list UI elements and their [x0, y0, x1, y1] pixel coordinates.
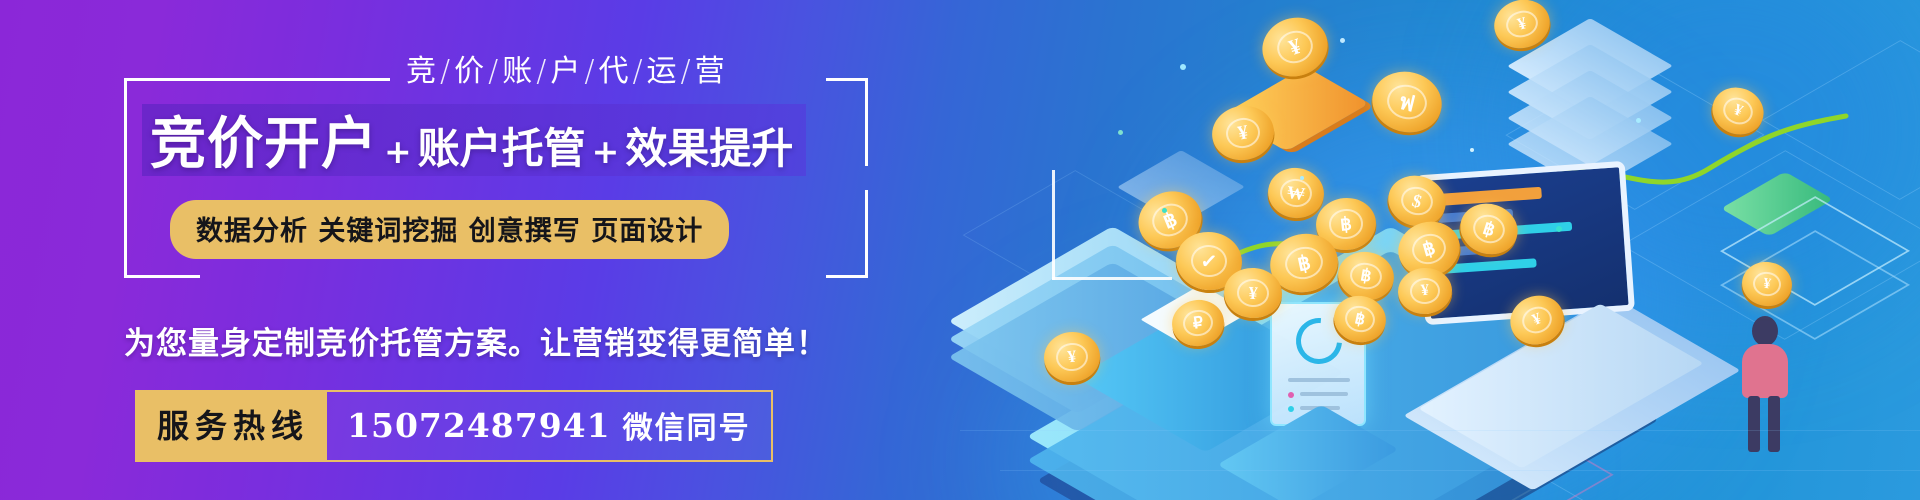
isometric-grid-1: [1505, 60, 1764, 210]
kicker-word: 户: [550, 54, 582, 89]
desk-platform-edge: [1027, 250, 1649, 500]
kicker-separator: /: [582, 54, 598, 89]
person-leg-right: [1768, 396, 1780, 452]
accent-loop-pink: [1216, 360, 1613, 500]
coin-16: ฿: [1454, 196, 1525, 261]
accent-loop-cyan: [1282, 395, 1559, 500]
coin-2: ฟ: [1366, 64, 1448, 139]
kicker-word: 价: [454, 54, 486, 89]
floor-line-1: [960, 430, 1920, 431]
isometric-grid-2: [1621, 150, 1920, 340]
headline-part-1: 竞价开户: [150, 112, 378, 177]
desk-platform-shadow: [1037, 270, 1659, 500]
hud-dot-2: [1288, 406, 1294, 412]
coin-12: ¥: [1222, 266, 1283, 320]
services-pill: 数据分析 关键词挖掘 创意撰写 页面设计: [170, 200, 729, 259]
kicker-separator: /: [679, 54, 695, 89]
coin-6: ✓: [1173, 229, 1245, 294]
subtitle: 为您量身定制竞价托管方案。让营销变得更简单！: [124, 318, 828, 363]
tower-block-3: [1507, 70, 1673, 166]
tower-block-2: [1507, 44, 1673, 140]
green-slab: [1721, 172, 1833, 237]
coin-19: ¥: [1503, 288, 1570, 352]
coin-5: ฿: [1130, 182, 1210, 258]
isometric-grid-4: [1220, 400, 1600, 500]
coin-7: ฿: [1313, 195, 1378, 253]
bracket-bottom-right: [826, 190, 868, 278]
sparkle-8: [1470, 148, 1474, 152]
tower-block-5: [1117, 150, 1245, 224]
kicker-separator: /: [630, 54, 646, 89]
sparkle-5: [1340, 38, 1345, 43]
rule-top: [166, 78, 390, 81]
data-card-pedestal: [1217, 405, 1399, 500]
page-title: 竞价开户 + 账户托管 + 效果提升: [142, 104, 801, 204]
hud-line-3: [1300, 406, 1340, 410]
coin-13: ₽: [1169, 297, 1227, 350]
kicker-word: 代: [598, 54, 630, 89]
rule-bottom: [166, 275, 200, 278]
orange-slab: [1223, 67, 1370, 152]
floor-line-2: [1000, 470, 1920, 471]
headline-part-2: 账户托管: [418, 124, 586, 173]
promo-banner: ¥ ฟ ¥ ₩ ฿ ✓ ฿ $ ฿ ฿ ฿ ¥ ₽ ฿ ¥ ฿ ¥ ¥ ¥ ¥ …: [0, 0, 1920, 500]
trend-line-icon: [1090, 110, 1850, 330]
tower-block-4: [1507, 96, 1673, 192]
kicker-word: 运: [647, 54, 679, 89]
data-card: [1270, 302, 1366, 426]
person-body: [1742, 344, 1788, 398]
person-leg-left: [1748, 396, 1760, 452]
hotline-number: 15072487941: [347, 406, 611, 445]
coin-17: ¥: [1489, 0, 1555, 54]
coin-21: ¥: [1042, 329, 1103, 385]
mid-cube: [1076, 298, 1344, 453]
white-card-on-cube: [1141, 285, 1250, 348]
hotline-wechat-note: 微信同号: [623, 403, 751, 447]
kicker-tagline: 竞/价/账/户/代/运/营: [406, 46, 727, 90]
coin-3: ¥: [1208, 101, 1278, 165]
coin-9: ฿: [1265, 228, 1344, 299]
monitor-screen: [1415, 161, 1635, 325]
kicker-separator: /: [486, 54, 502, 89]
keyboard: [1418, 304, 1703, 469]
bracket-top-right: [826, 78, 868, 166]
coin-4: ₩: [1265, 164, 1327, 221]
kicker-word: 账: [502, 54, 534, 89]
hud-line-2: [1300, 392, 1348, 396]
isometric-grid-3: [1118, 300, 1412, 470]
headline-plus-1: +: [378, 132, 418, 171]
coin-14: ฿: [1330, 291, 1390, 347]
hotline-number-group[interactable]: 15072487941 微信同号: [327, 390, 773, 462]
tower-block-1: [1507, 18, 1673, 114]
hotline-label: 服务热线: [135, 390, 327, 462]
coin-20: ¥: [1739, 259, 1795, 310]
coin-8: $: [1382, 169, 1452, 233]
glow-c: [1000, 300, 1500, 500]
glow-b: [1520, 0, 1920, 320]
coin-15: ¥: [1396, 266, 1453, 316]
illus-bracket-h: [1052, 277, 1172, 280]
headline-part-3: 效果提升: [625, 124, 793, 173]
donut-chart-icon: [1287, 309, 1352, 374]
glow-a: [1180, 90, 1700, 500]
isometric-grid-7: [1762, 40, 1920, 200]
kicker-separator: /: [438, 54, 454, 89]
illus-bracket-v: [1052, 170, 1055, 280]
sparkle-7: [1636, 118, 1641, 123]
hud-dot-1: [1288, 392, 1294, 398]
isometric-grid-5: [1439, 330, 1681, 470]
wire-cube: [1720, 230, 1910, 340]
wire-cube-top: [1720, 196, 1910, 306]
sparkle-1: [1180, 64, 1186, 70]
kicker-separator: /: [534, 54, 550, 89]
sparkle-3: [1162, 208, 1167, 213]
sparkle-2: [1118, 130, 1123, 135]
kicker-word: 营: [695, 54, 727, 89]
sparkle-4: [1300, 176, 1304, 180]
hotline-bar[interactable]: 服务热线 15072487941 微信同号: [135, 390, 773, 462]
headline-plus-2: +: [586, 132, 626, 171]
coin-10: ฿: [1334, 248, 1397, 305]
desk-platform: [1027, 226, 1649, 500]
kicker-word: 竞: [406, 54, 438, 89]
laptop-base: [1403, 296, 1740, 491]
sparkle-6: [1556, 226, 1562, 232]
person-head: [1752, 316, 1778, 346]
coin-11: ฿: [1392, 215, 1466, 284]
coin-1: ¥: [1255, 9, 1336, 85]
coin-18: ¥: [1705, 80, 1770, 142]
hud-line-1: [1288, 378, 1350, 382]
headline-wrap: 竞价开户 + 账户托管 + 效果提升: [142, 104, 801, 204]
copy-block: 竞/价/账/户/代/运/营 竞价开户 + 账户托管 + 效果提升 数据分析 关键…: [0, 0, 1000, 500]
